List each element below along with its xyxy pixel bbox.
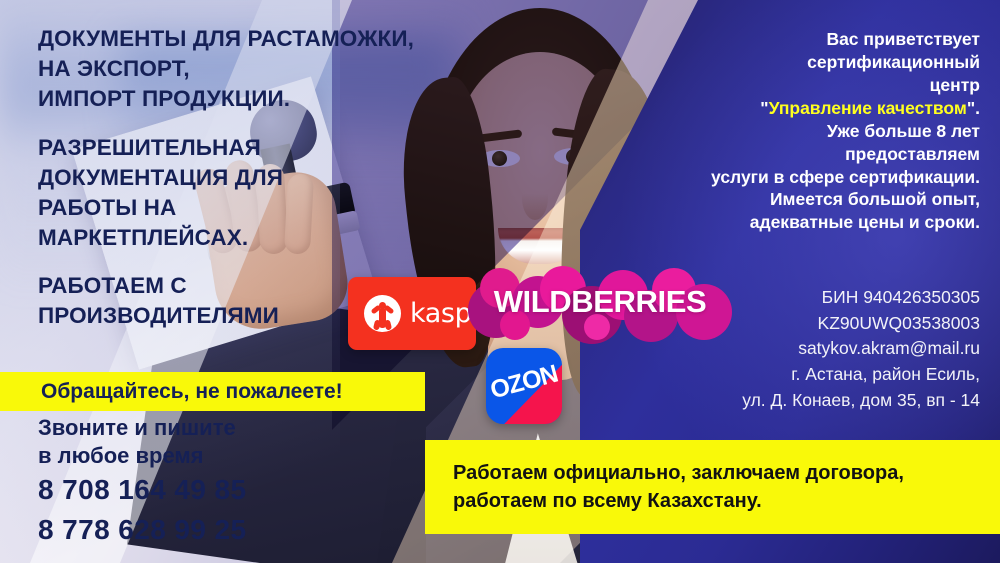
headline-line: ДОКУМЕНТАЦИЯ ДЛЯ <box>38 163 398 193</box>
intro-line: центр <box>675 74 980 97</box>
email-address[interactable]: satykov.akram@mail.ru <box>660 336 980 362</box>
phone-number-1[interactable]: 8 708 164 49 85 <box>38 470 428 510</box>
phone-number-2[interactable]: 8 778 628 99 25 <box>38 510 428 550</box>
kaspi-logo[interactable]: kaspi <box>348 277 476 350</box>
yellow-banner-contact-us: Обращайтесь, не пожалеете! <box>0 372 425 411</box>
headline-line: МАРКЕТПЛЕЙСАХ. <box>38 223 398 253</box>
headline-line: РАБОТЫ НА <box>38 193 398 223</box>
quote-open: " <box>760 98 768 118</box>
headline-line: ДОКУМЕНТЫ ДЛЯ РАСТАМОЖКИ, <box>38 24 398 54</box>
address-line-2: ул. Д. Конаев, дом 35, вп - 14 <box>660 388 980 414</box>
kaspi-family-icon <box>364 295 401 332</box>
business-id-bin: БИН 940426350305 <box>660 285 980 311</box>
yellow-banner-official-work: Работаем официально, заключаем договора,… <box>425 440 1000 534</box>
intro-line: Вас приветствует <box>675 28 980 51</box>
intro-line: услуги в сфере сертификации. <box>675 166 980 189</box>
headline-block-1: ДОКУМЕНТЫ ДЛЯ РАСТАМОЖКИ, НА ЭКСПОРТ, ИМ… <box>38 24 398 114</box>
ozon-logo[interactable]: OZON <box>486 348 562 424</box>
company-intro-text: Вас приветствует сертификационный центр … <box>675 28 980 234</box>
intro-line: адекватные цены и сроки. <box>675 211 980 234</box>
company-contacts-block: БИН 940426350305 KZ90UWQ03538003 satykov… <box>660 285 980 414</box>
headline-block-2: РАЗРЕШИТЕЛЬНАЯ ДОКУМЕНТАЦИЯ ДЛЯ РАБОТЫ Н… <box>38 133 398 253</box>
headline-line: РАБОТАЕМ С <box>38 271 398 301</box>
bank-account-iban: KZ90UWQ03538003 <box>660 311 980 337</box>
cta-line-2: в любое время <box>38 442 428 470</box>
advertisement-poster: ДОКУМЕНТЫ ДЛЯ РАСТАМОЖКИ, НА ЭКСПОРТ, ИМ… <box>0 0 1000 563</box>
cta-line-1: Звоните и пишите <box>38 414 428 442</box>
intro-line: Имеется большой опыт, <box>675 188 980 211</box>
headline-line: НА ЭКСПОРТ, <box>38 54 398 84</box>
kaspi-icon-leg-left <box>373 319 381 330</box>
bottom-banner-line-1: Работаем официально, заключаем договора, <box>453 459 1000 487</box>
intro-line: сертификационный <box>675 51 980 74</box>
yellow-banner-text: Обращайтесь, не пожалеете! <box>41 380 343 404</box>
company-name: Управление качеством <box>769 98 967 118</box>
company-name-line: "Управление качеством". <box>675 97 980 120</box>
bottom-banner-line-2: работаем по всему Казахстану. <box>453 487 1000 515</box>
quote-close: ". <box>967 98 980 118</box>
headline-line: РАЗРЕШИТЕЛЬНАЯ <box>38 133 398 163</box>
kaspi-icon-leg-right <box>384 319 392 330</box>
headline-line: ПРОИЗВОДИТЕЛЯМИ <box>38 301 398 331</box>
call-to-action-block: Звоните и пишите в любое время 8 708 164… <box>38 414 428 550</box>
headline-line: ИМПОРТ ПРОДУКЦИИ. <box>38 84 398 114</box>
headline-block-3: РАБОТАЕМ С ПРОИЗВОДИТЕЛЯМИ <box>38 271 398 331</box>
headline-copy: ДОКУМЕНТЫ ДЛЯ РАСТАМОЖКИ, НА ЭКСПОРТ, ИМ… <box>38 24 398 331</box>
intro-line: предоставляем <box>675 143 980 166</box>
address-line-1: г. Астана, район Есиль, <box>660 362 980 388</box>
intro-line: Уже больше 8 лет <box>675 120 980 143</box>
